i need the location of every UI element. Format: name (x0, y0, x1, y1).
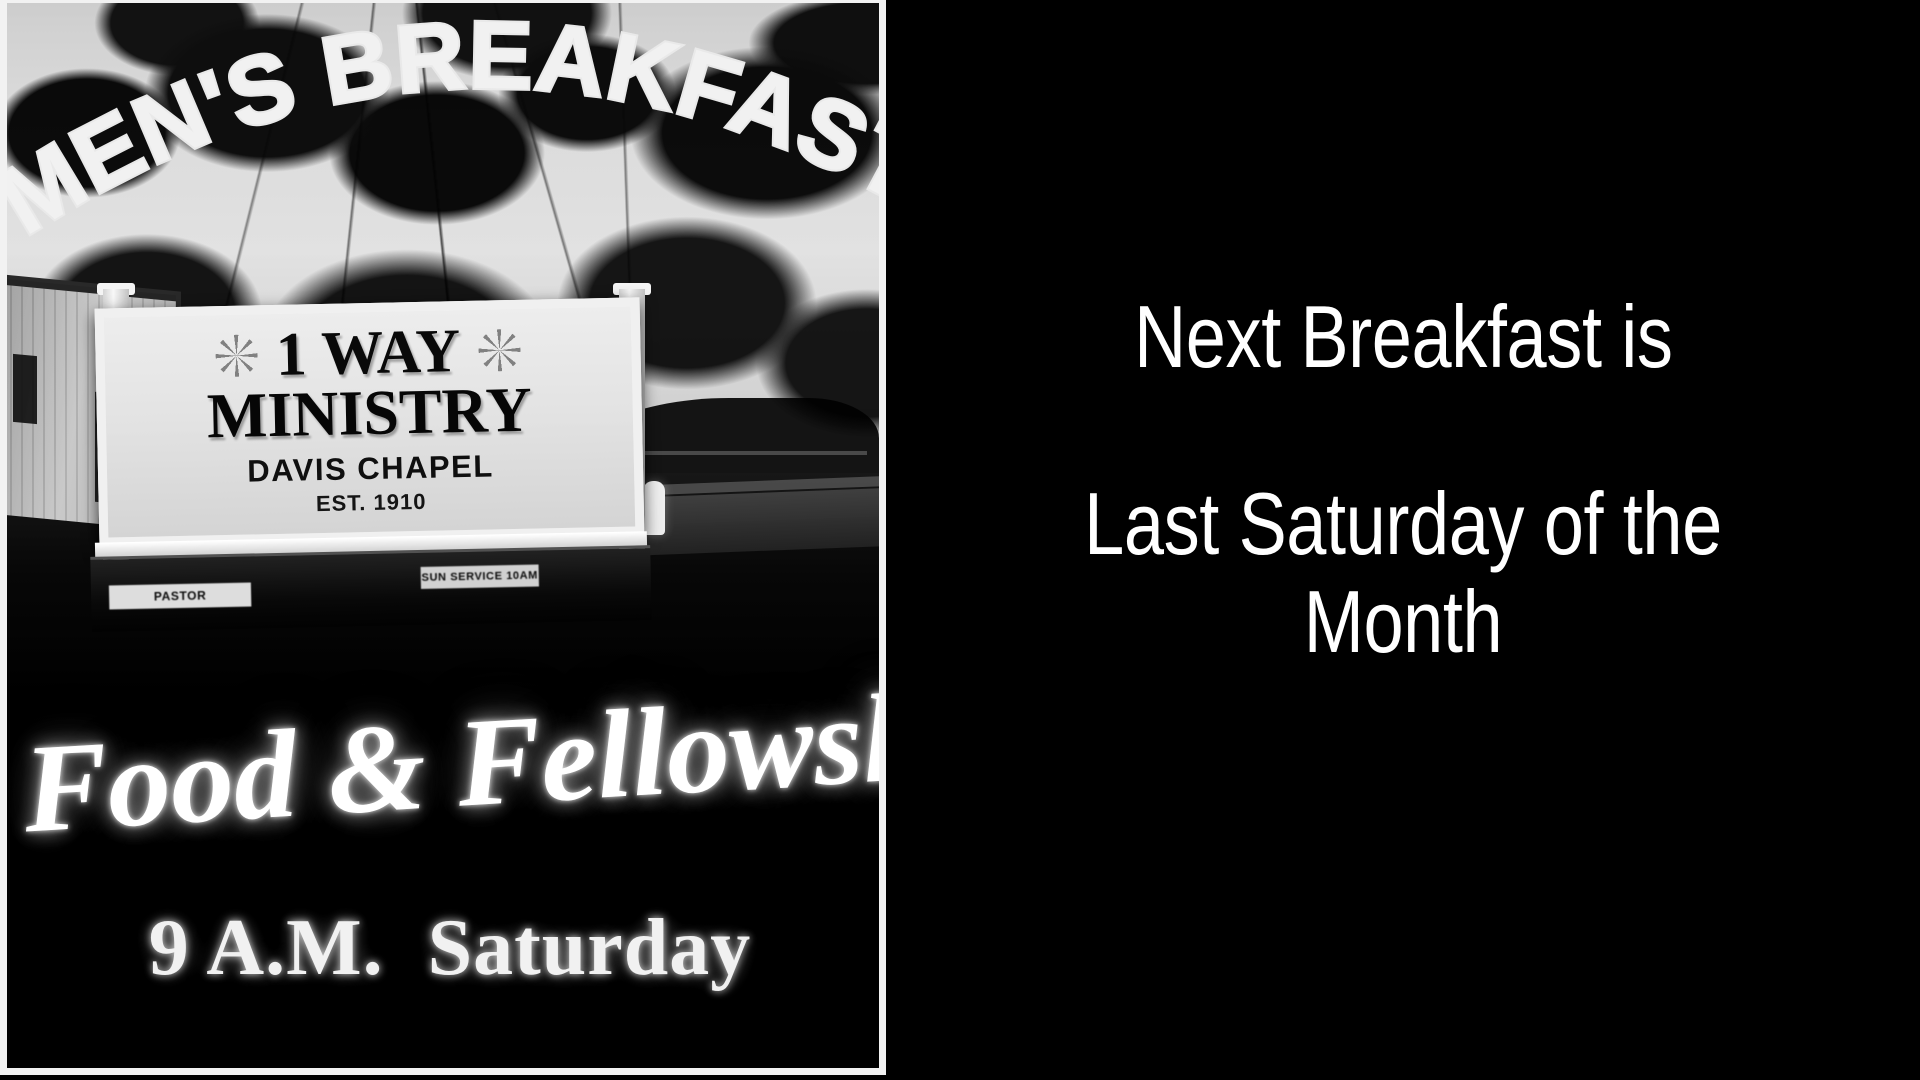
next-breakfast-line: Next Breakfast is (1134, 288, 1672, 387)
starburst-icon (215, 334, 258, 377)
breakfast-day: Saturday (428, 904, 752, 992)
church-sign-established: EST. 1910 (316, 489, 427, 517)
building-window (13, 354, 37, 424)
fence-post (643, 481, 665, 535)
church-sign-chapel: DAVIS CHAPEL (247, 449, 494, 490)
placard-service: SUN SERVICE 10AM (421, 564, 539, 588)
far-fence-rail (627, 451, 867, 455)
slide-canvas: 1 WAY MINISTRY DAVIS CHAPEL EST. 1910 PA… (0, 0, 1920, 1080)
sign-lower-board: PASTOR SUN SERVICE 10AM (90, 545, 651, 632)
breakfast-flyer-image: 1 WAY MINISTRY DAVIS CHAPEL EST. 1910 PA… (0, 0, 886, 1075)
schedule-line: Last Saturday of the Month (979, 475, 1827, 672)
placard-pastor: PASTOR (109, 583, 251, 610)
church-sign-face: 1 WAY MINISTRY DAVIS CHAPEL EST. 1910 (104, 307, 635, 538)
photo-scene: 1 WAY MINISTRY DAVIS CHAPEL EST. 1910 PA… (7, 3, 879, 1068)
church-sign-board: 1 WAY MINISTRY DAVIS CHAPEL EST. 1910 (95, 297, 645, 546)
church-sign-ministry: MINISTRY (206, 377, 532, 449)
starburst-icon (478, 329, 521, 372)
breakfast-time: 9 A.M. (149, 904, 384, 992)
slide-text-panel: Next Breakfast is Last Saturday of the M… (886, 0, 1920, 1080)
breakfast-time-row: 9 A.M.Saturday (7, 908, 879, 988)
